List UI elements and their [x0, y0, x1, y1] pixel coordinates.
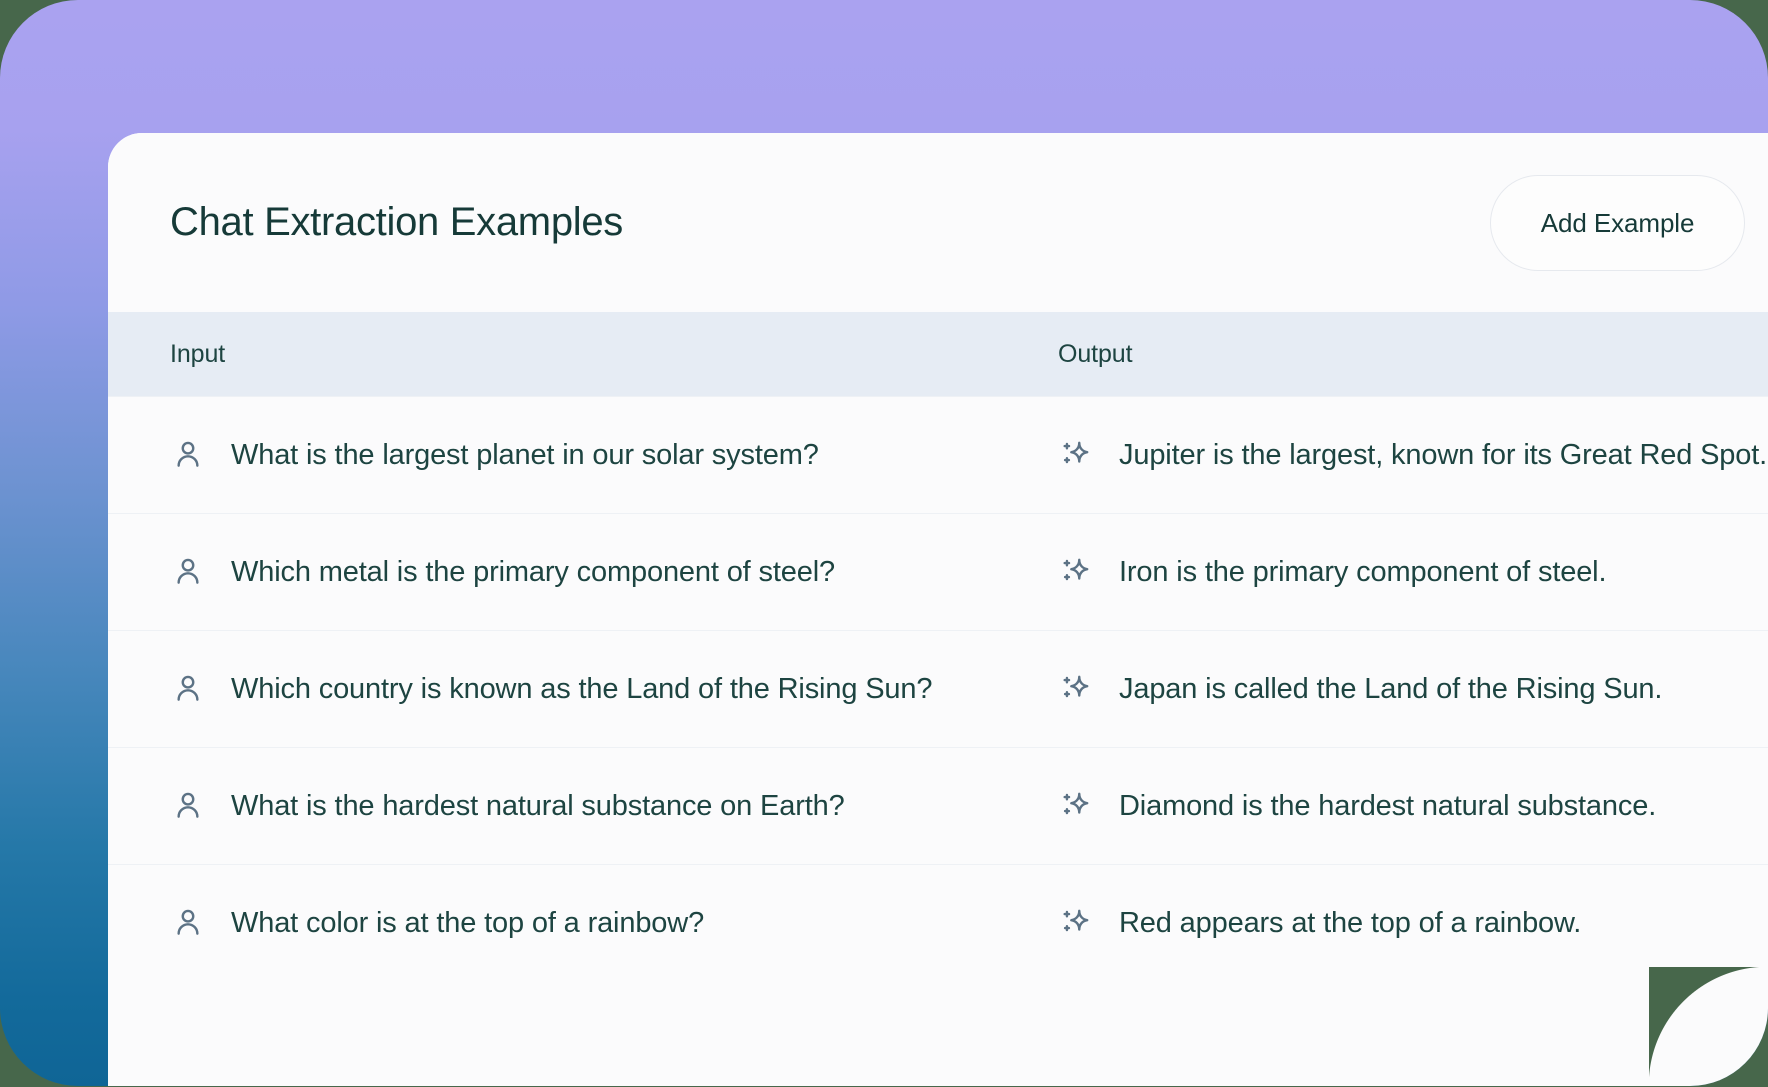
- table-row[interactable]: Which metal is the primary component of …: [108, 513, 1768, 630]
- card-header: Chat Extraction Examples Add Example New…: [108, 133, 1768, 312]
- examples-card: Chat Extraction Examples Add Example New…: [108, 133, 1768, 1086]
- user-icon: [170, 554, 206, 590]
- cell-input: What is the largest planet in our solar …: [170, 437, 1058, 473]
- user-icon: [170, 788, 206, 824]
- table-row[interactable]: What color is at the top of a rainbow? R…: [108, 864, 1768, 981]
- cell-input-text: What is the hardest natural substance on…: [231, 790, 845, 823]
- cell-input: What is the hardest natural substance on…: [170, 788, 1058, 824]
- sparkle-icon: [1058, 788, 1094, 824]
- cell-output-text: Iron is the primary component of steel.: [1119, 556, 1606, 589]
- cell-output-text: Red appears at the top of a rainbow.: [1119, 907, 1581, 940]
- cell-output: Red appears at the top of a rainbow.: [1058, 905, 1768, 941]
- cell-output-text: Jupiter is the largest, known for its Gr…: [1119, 439, 1767, 472]
- cell-output: Jupiter is the largest, known for its Gr…: [1058, 437, 1768, 473]
- table-header-row: Input Output: [108, 312, 1768, 396]
- cell-output: Japan is called the Land of the Rising S…: [1058, 671, 1768, 707]
- user-icon: [170, 437, 206, 473]
- sparkle-icon: [1058, 437, 1094, 473]
- cell-input: Which country is known as the Land of th…: [170, 671, 1058, 707]
- column-header-output: Output: [1058, 340, 1768, 369]
- cell-input-text: Which country is known as the Land of th…: [231, 673, 932, 706]
- cell-input: What color is at the top of a rainbow?: [170, 905, 1058, 941]
- add-example-button[interactable]: Add Example: [1490, 175, 1746, 271]
- cell-output-text: Diamond is the hardest natural substance…: [1119, 790, 1656, 823]
- header-actions: Add Example New Test: [1490, 175, 1768, 271]
- gradient-backdrop: Chat Extraction Examples Add Example New…: [0, 0, 1768, 1086]
- page-title: Chat Extraction Examples: [170, 200, 623, 245]
- sparkle-icon: [1058, 671, 1094, 707]
- cell-input-text: Which metal is the primary component of …: [231, 556, 835, 589]
- table-row[interactable]: What is the largest planet in our solar …: [108, 396, 1768, 513]
- cell-input: Which metal is the primary component of …: [170, 554, 1058, 590]
- table-row[interactable]: What is the hardest natural substance on…: [108, 747, 1768, 864]
- user-icon: [170, 671, 206, 707]
- cell-output: Diamond is the hardest natural substance…: [1058, 788, 1768, 824]
- cell-input-text: What is the largest planet in our solar …: [231, 439, 819, 472]
- cell-output: Iron is the primary component of steel.: [1058, 554, 1768, 590]
- sparkle-icon: [1058, 554, 1094, 590]
- column-header-input: Input: [170, 340, 1058, 369]
- cell-input-text: What color is at the top of a rainbow?: [231, 907, 704, 940]
- user-icon: [170, 905, 206, 941]
- sparkle-icon: [1058, 905, 1094, 941]
- cell-output-text: Japan is called the Land of the Rising S…: [1119, 673, 1662, 706]
- examples-table: Input Output What is the largest planet …: [108, 312, 1768, 981]
- table-row[interactable]: Which country is known as the Land of th…: [108, 630, 1768, 747]
